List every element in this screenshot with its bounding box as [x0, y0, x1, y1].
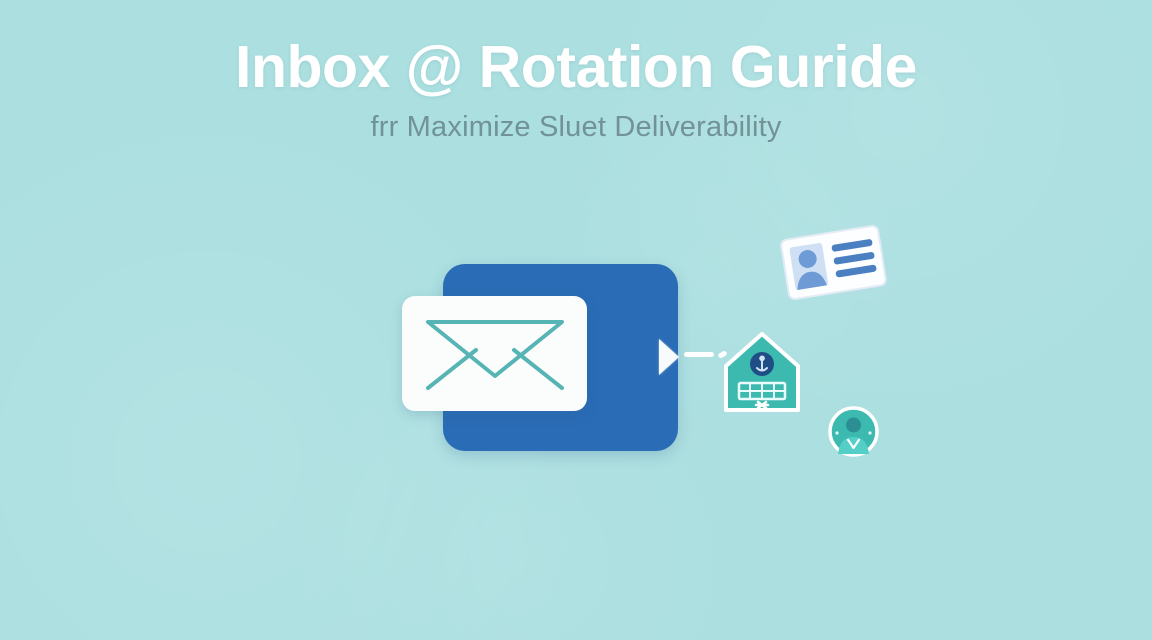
flow-arrow-shaft	[684, 352, 714, 357]
envelope-icon	[424, 314, 566, 394]
illustration-group	[0, 0, 1152, 640]
email-card	[402, 296, 587, 411]
user-avatar-icon	[828, 406, 879, 457]
flow-arrow-head	[659, 339, 679, 375]
mail-server-house-icon	[722, 331, 802, 415]
identity-card-icon	[779, 223, 889, 301]
slide-canvas: Inbox @ Rotation Guride frr Maximize Slu…	[0, 0, 1152, 640]
